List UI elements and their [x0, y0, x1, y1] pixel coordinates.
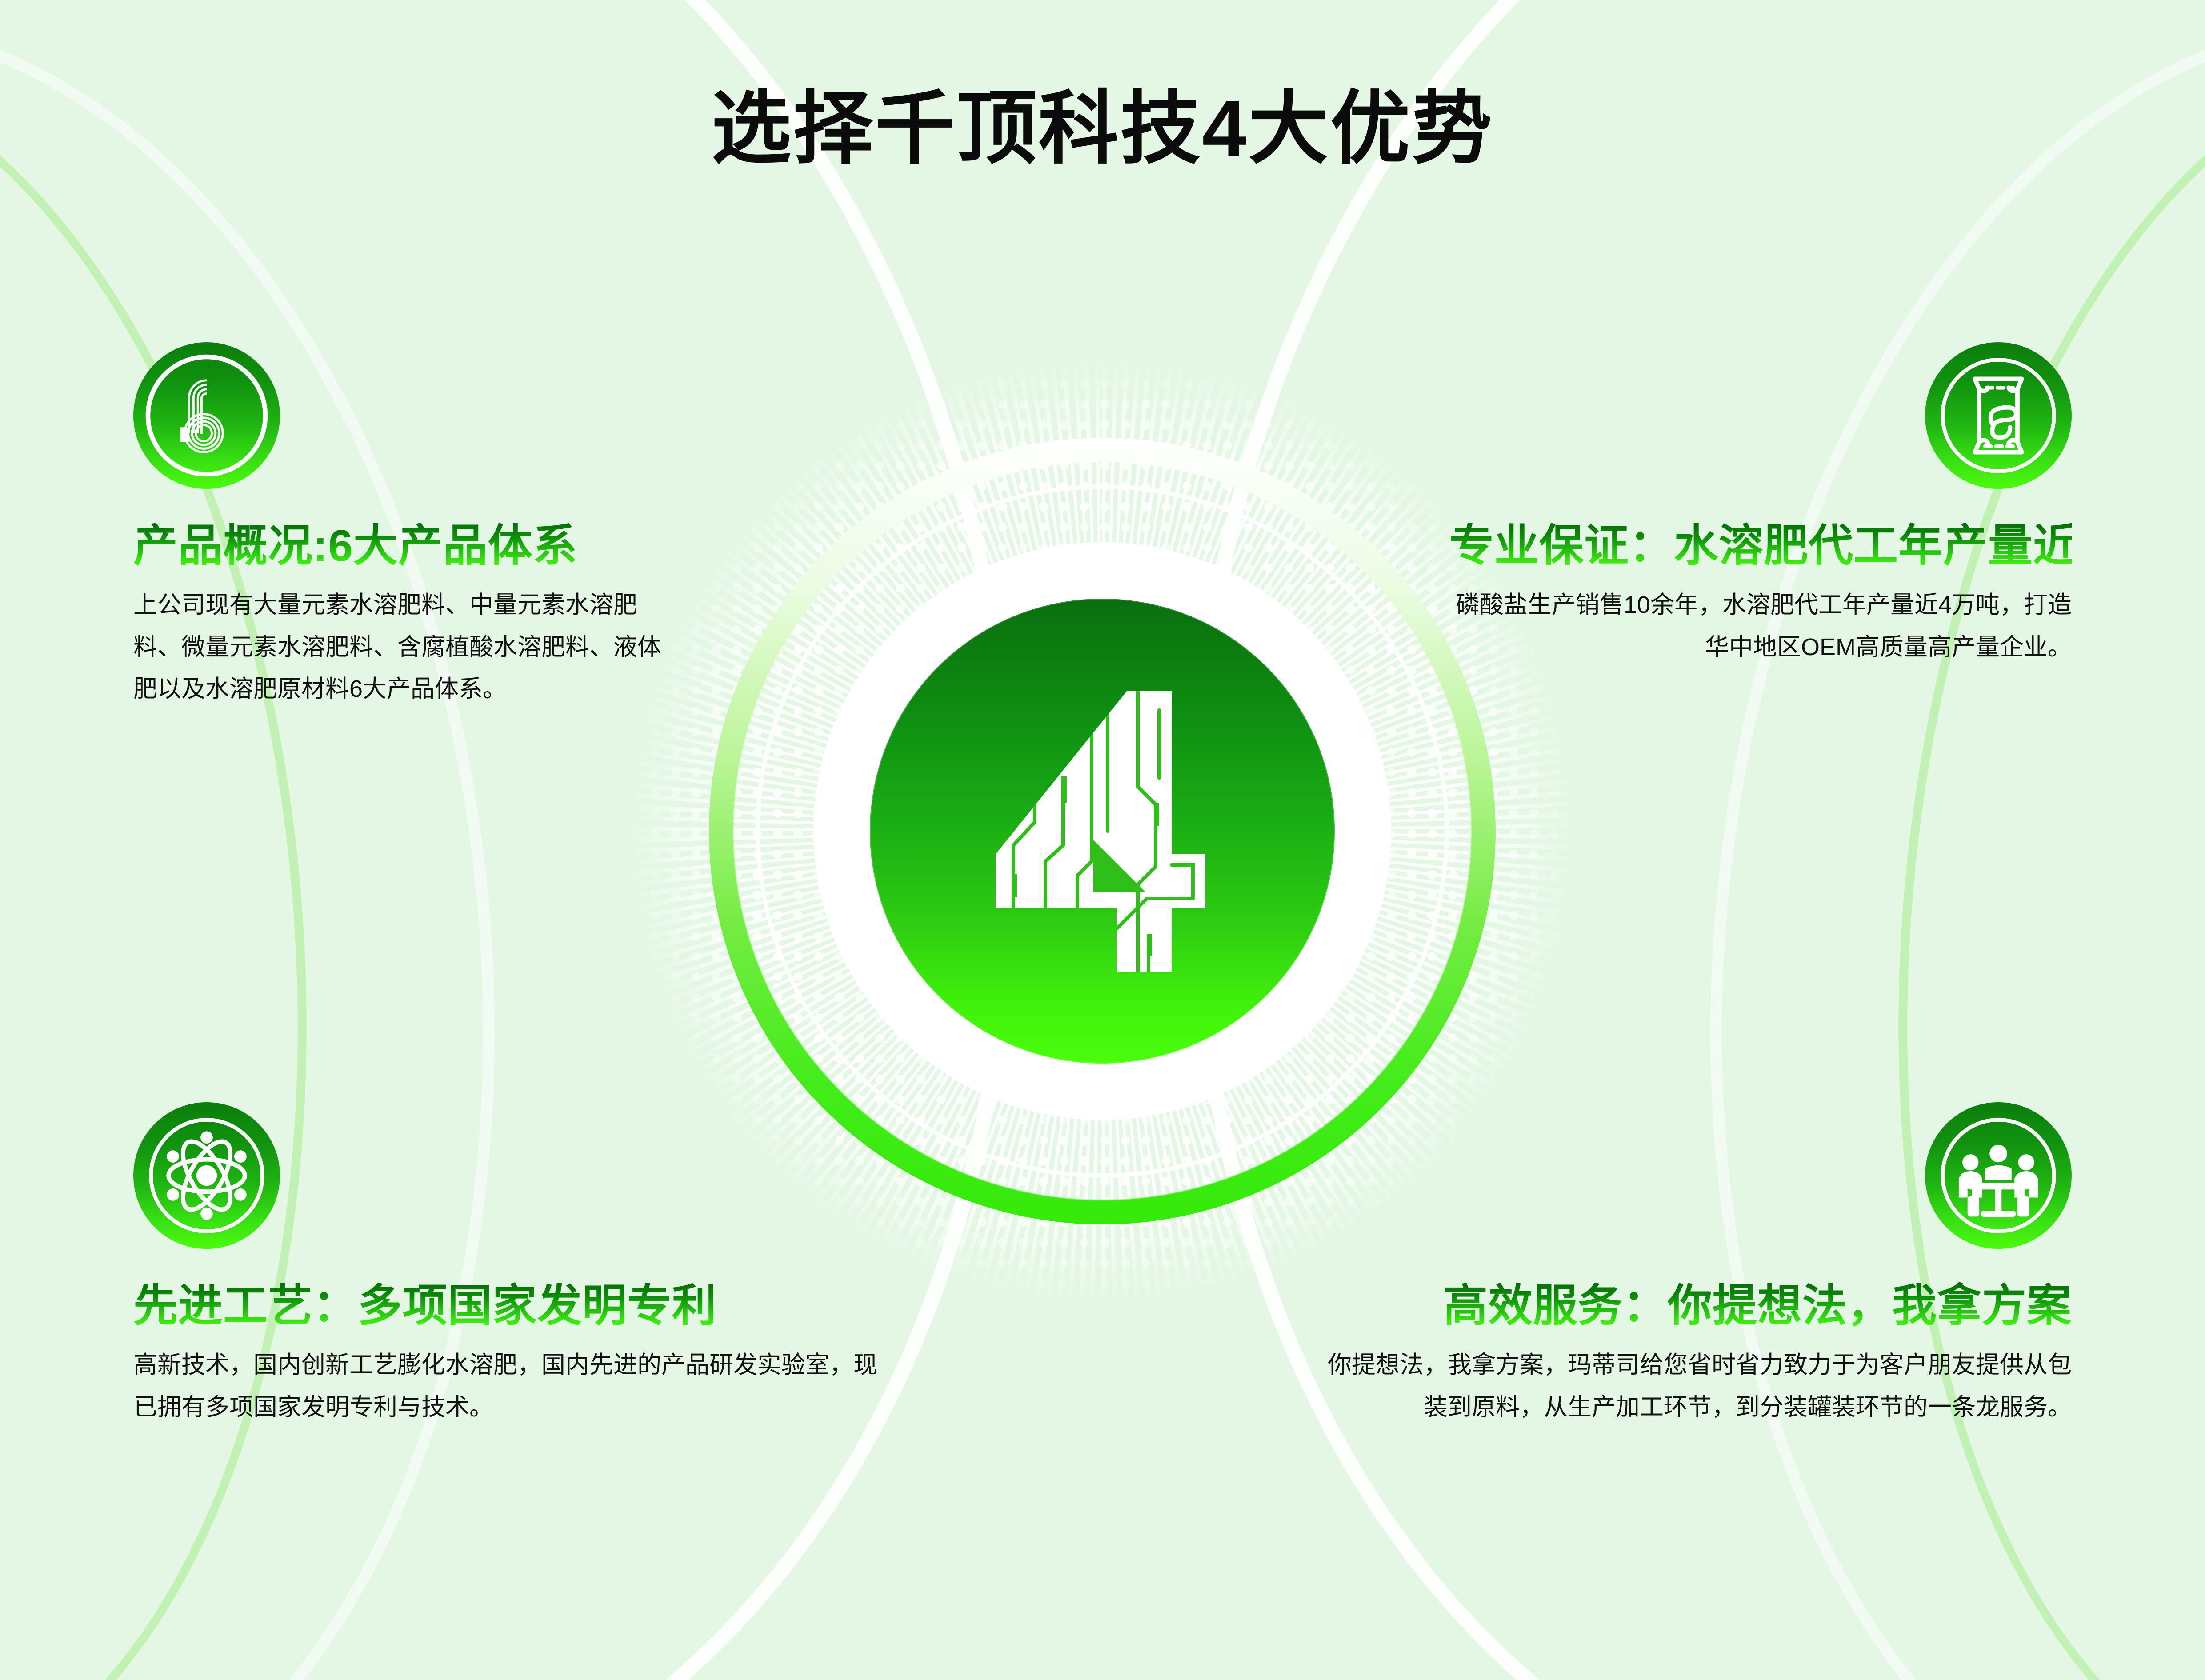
atom-icon — [133, 1102, 280, 1249]
fertilizer-bag-icon — [1925, 342, 2072, 489]
background-arc-left-inner — [0, 0, 583, 1680]
meeting-people-icon — [1925, 1102, 2072, 1249]
background-arc-green-right — [1828, 15, 2205, 1680]
advantage-block-top-left: 产品概况:6大产品体系 上公司现有大量元素水溶肥料、中量元素水溶肥料、微量元素水… — [133, 342, 711, 710]
advantage-body: 上公司现有大量元素水溶肥料、中量元素水溶肥料、微量元素水溶肥料、含腐植酸水溶肥料… — [133, 584, 671, 710]
center-number-four-icon — [960, 671, 1245, 991]
background-arc-green-left — [0, 15, 377, 1680]
advantage-block-top-right: 专业保证：水溶肥代工年产量近4万吨 磷酸盐生产销售10余年，水溶肥代工年产量近4… — [1449, 342, 2072, 668]
advantage-heading: 先进工艺：多项国家发明专利 — [133, 1281, 889, 1331]
number-six-spiral-icon — [133, 342, 280, 489]
advantage-heading: 高效服务：你提想法，我拿方案 — [1307, 1281, 2072, 1331]
background-arc-right-inner — [1622, 0, 2205, 1680]
advantage-heading: 专业保证：水溶肥代工年产量近4万吨 — [1449, 521, 2072, 571]
advantage-block-bottom-right: 高效服务：你提想法，我拿方案 你提想法，我拿方案，玛蒂司给您省时省力致力于为客户… — [1307, 1102, 2072, 1428]
center-green-disc — [870, 599, 1335, 1064]
advantage-heading: 产品概况:6大产品体系 — [133, 521, 711, 571]
advantage-body: 高新技术，国内创新工艺膨化水溶肥，国内先进的产品研发实验室，现已拥有多项国家发明… — [133, 1344, 880, 1428]
advantage-body: 磷酸盐生产销售10余年，水溶肥代工年产量近4万吨，打造华中地区OEM高质量高产量… — [1454, 584, 2072, 668]
advantage-body: 你提想法，我拿方案，玛蒂司给您省时省力致力于为客户朋友提供从包装到原料，从生产加… — [1316, 1344, 2072, 1428]
advantage-block-bottom-left: 先进工艺：多项国家发明专利 高新技术，国内创新工艺膨化水溶肥，国内先进的产品研发… — [133, 1102, 889, 1428]
page-title: 选择千顶科技4大优势 — [0, 89, 2205, 169]
